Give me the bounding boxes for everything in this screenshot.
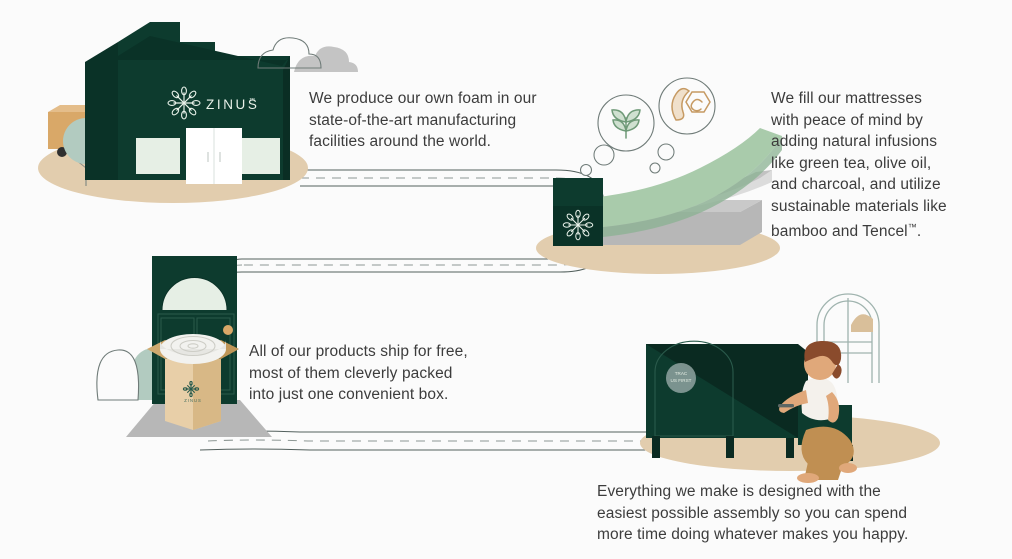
mattress-brand-tag — [553, 178, 603, 246]
caption-natural-infusions: We fill our mattresses with peace of min… — [771, 88, 971, 243]
caption-foam-production: We produce our own foam in our state-of-… — [309, 88, 569, 153]
caption-natural-infusions-period: . — [917, 223, 921, 240]
trademark-symbol: ™ — [908, 222, 917, 232]
caption-easy-assembly: Everything we make is designed with the … — [597, 481, 942, 546]
badge-line-1: TRAC — [675, 371, 688, 376]
factory-window-left — [136, 138, 180, 174]
infographic-illustration: ZINUS ™ — [0, 0, 1012, 559]
door-knob-icon — [223, 325, 233, 335]
badge-line-2: US FIRST — [671, 378, 692, 383]
bubble-charcoal-carbon — [659, 78, 715, 134]
caption-free-shipping: All of our products ship for free, most … — [249, 341, 499, 406]
assembly-tool-icon — [778, 404, 794, 407]
box-brand-wordmark: ZINUS — [184, 398, 202, 403]
factory-window-right — [236, 138, 280, 174]
infographic-canvas: ZINUS ™ — [0, 0, 1012, 559]
caption-natural-infusions-text: We fill our mattresses with peace of min… — [771, 90, 947, 240]
bush-outline-icon — [97, 350, 139, 400]
factory-brand-trademark: ™ — [249, 97, 255, 104]
bubble-plant-sprout — [598, 95, 654, 151]
